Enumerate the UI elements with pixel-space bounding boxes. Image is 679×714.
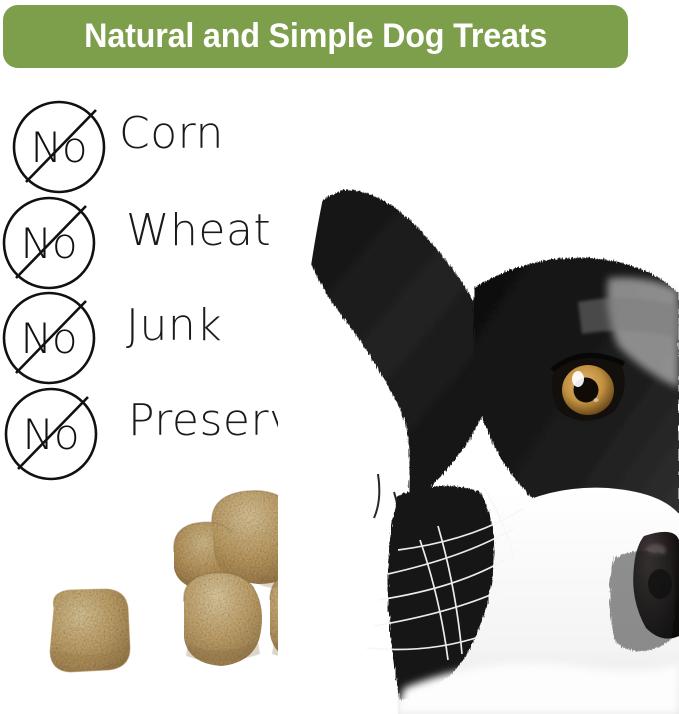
claim-label-corn: Corn — [119, 112, 224, 156]
page-title: Natural and Simple Dog Treats — [84, 19, 547, 55]
dog-photo — [278, 88, 679, 714]
claim-label-junk: Junk — [126, 304, 222, 348]
dog-eye — [552, 355, 625, 422]
header-banner: Natural and Simple Dog Treats — [3, 5, 628, 68]
no-circle-icon: No — [12, 100, 110, 198]
treat-single — [44, 586, 136, 676]
product-infographic: Natural and Simple Dog Treats No Corn No — [0, 0, 679, 714]
no-circle-icon: No — [2, 291, 100, 389]
claim-label-wheat: Wheat — [126, 209, 271, 253]
no-circle-icon: No — [4, 387, 102, 485]
no-circle-icon: No — [2, 196, 100, 294]
